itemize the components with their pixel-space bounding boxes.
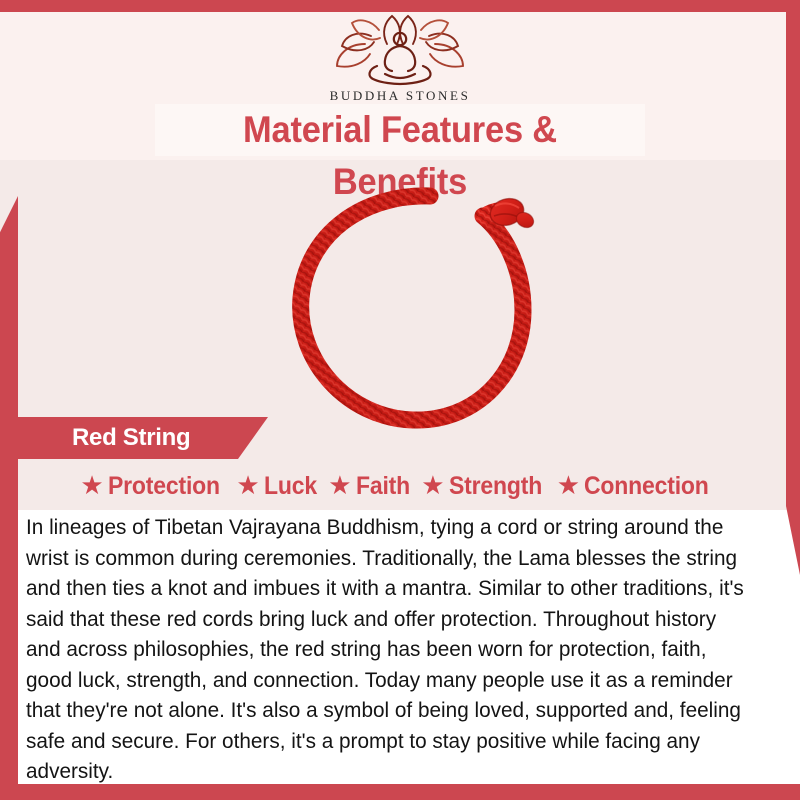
border-accent-left	[0, 196, 18, 800]
benefit-item-strength: ★ Strength	[421, 472, 549, 501]
star-icon: ★	[328, 472, 351, 498]
brand-name: BUDDHA STONES	[0, 88, 800, 104]
benefits-list: ★ Protection ★ Luck ★ Faith ★ Strength ★…	[18, 466, 782, 506]
brand-logo: BUDDHA STONES	[0, 14, 800, 104]
benefit-label: Luck	[264, 472, 317, 501]
lotus-meditation-icon	[325, 14, 475, 86]
star-icon: ★	[236, 472, 259, 498]
benefit-item-faith: ★ Faith	[328, 472, 414, 501]
benefit-label: Protection	[108, 472, 220, 501]
benefit-item-protection: ★ Protection	[80, 472, 229, 501]
star-icon: ★	[80, 472, 103, 498]
material-features-infographic: BUDDHA STONES Material Features & Benefi…	[0, 0, 800, 800]
benefit-item-luck: ★ Luck	[236, 472, 321, 501]
material-label: Red String	[72, 417, 190, 459]
star-icon: ★	[421, 472, 444, 498]
border-accent-top	[0, 0, 800, 12]
description-text: In lineages of Tibetan Vajrayana Buddhis…	[26, 512, 752, 787]
page-title: Material Features & Benefits	[172, 104, 628, 156]
benefit-label: Strength	[449, 472, 542, 501]
benefit-item-connection: ★ Connection	[557, 472, 720, 501]
benefit-label: Faith	[356, 472, 410, 501]
benefit-label: Connection	[584, 472, 709, 501]
star-icon: ★	[557, 472, 580, 498]
product-image-red-string-bracelet	[255, 180, 565, 445]
